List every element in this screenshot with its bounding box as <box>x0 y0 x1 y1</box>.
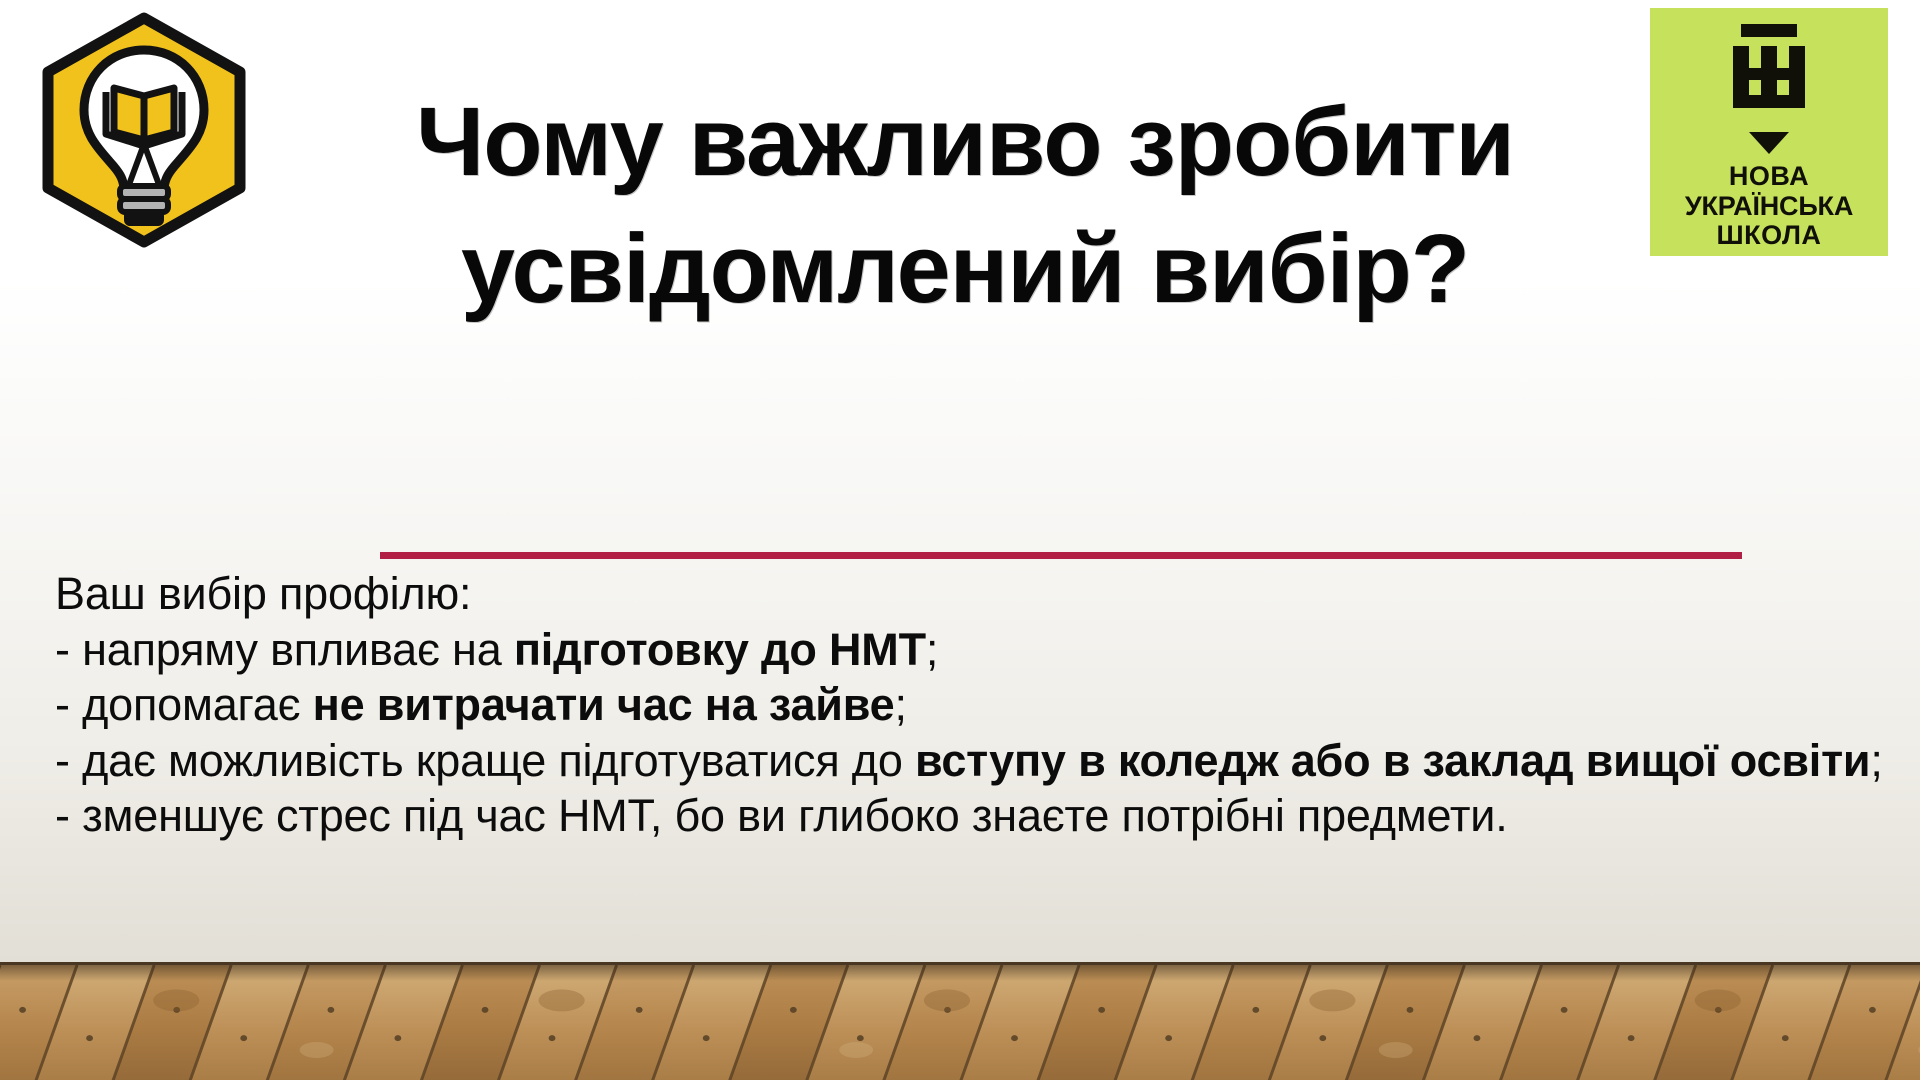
bullet-dash: - <box>55 679 70 730</box>
triangle-down-icon <box>1746 130 1792 156</box>
nus-logo: НОВА УКРАЇНСЬКА ШКОЛА <box>1650 8 1888 256</box>
wooden-floor <box>0 962 1920 1080</box>
bullet-dash: - <box>55 624 70 675</box>
wood-plank-pattern <box>0 965 1920 1080</box>
bullet-text-post: ; <box>926 624 938 675</box>
nus-logo-line-3: ШКОЛА <box>1717 222 1822 250</box>
bullet-text-pre: дає можливість краще підготуватися до <box>70 735 915 786</box>
bullet-text-post: ; <box>1870 735 1882 786</box>
nus-logo-line-1: НОВА <box>1729 163 1809 191</box>
body-text-block: Ваш вибір профілю: - напряму впливає на … <box>55 566 1885 844</box>
bullet-text-pre: напряму впливає на <box>70 624 514 675</box>
title-line-1: Чому важливо зробити <box>300 86 1630 199</box>
body-bullet-1: - напряму впливає на підготовку до НМТ; <box>55 622 1885 678</box>
nus-logo-line-2: УКРАЇНСЬКА <box>1685 193 1853 221</box>
slide-canvas: НОВА УКРАЇНСЬКА ШКОЛА Чому важливо зроби… <box>0 0 1920 1080</box>
bullet-text-bold: не витрачати час на зайве <box>313 679 895 730</box>
lightbulb-book-logo <box>18 6 270 254</box>
nus-monogram-icon <box>1719 22 1819 124</box>
bullet-text-pre: зменшує стрес під час НМТ, бо ви глибоко… <box>70 790 1508 841</box>
bullet-dash: - <box>55 790 70 841</box>
bullet-dash: - <box>55 735 70 786</box>
body-bullet-4: - зменшує стрес під час НМТ, бо ви глибо… <box>55 788 1885 844</box>
body-bullet-2: - допомагає не витрачати час на зайве; <box>55 677 1885 733</box>
accent-rule-divider <box>380 552 1742 559</box>
slide-title: Чому важливо зробити усвідомлений вибір? <box>300 86 1630 325</box>
body-intro-text: Ваш вибір профілю: <box>55 568 471 619</box>
title-line-2: усвідомлений вибір? <box>300 213 1630 326</box>
body-intro-line: Ваш вибір профілю: <box>55 566 1885 622</box>
bullet-text-bold: підготовку до НМТ <box>514 624 926 675</box>
bullet-text-post: ; <box>894 679 906 730</box>
book-right-page <box>144 88 174 140</box>
bullet-text-bold: вступу в коледж або в заклад вищої освіт… <box>915 735 1870 786</box>
bulb-base-tip <box>126 212 162 224</box>
body-bullet-3: - дає можливість краще підготуватися до … <box>55 733 1885 789</box>
bullet-text-pre: допомагає <box>70 679 313 730</box>
book-left-page <box>114 88 144 140</box>
